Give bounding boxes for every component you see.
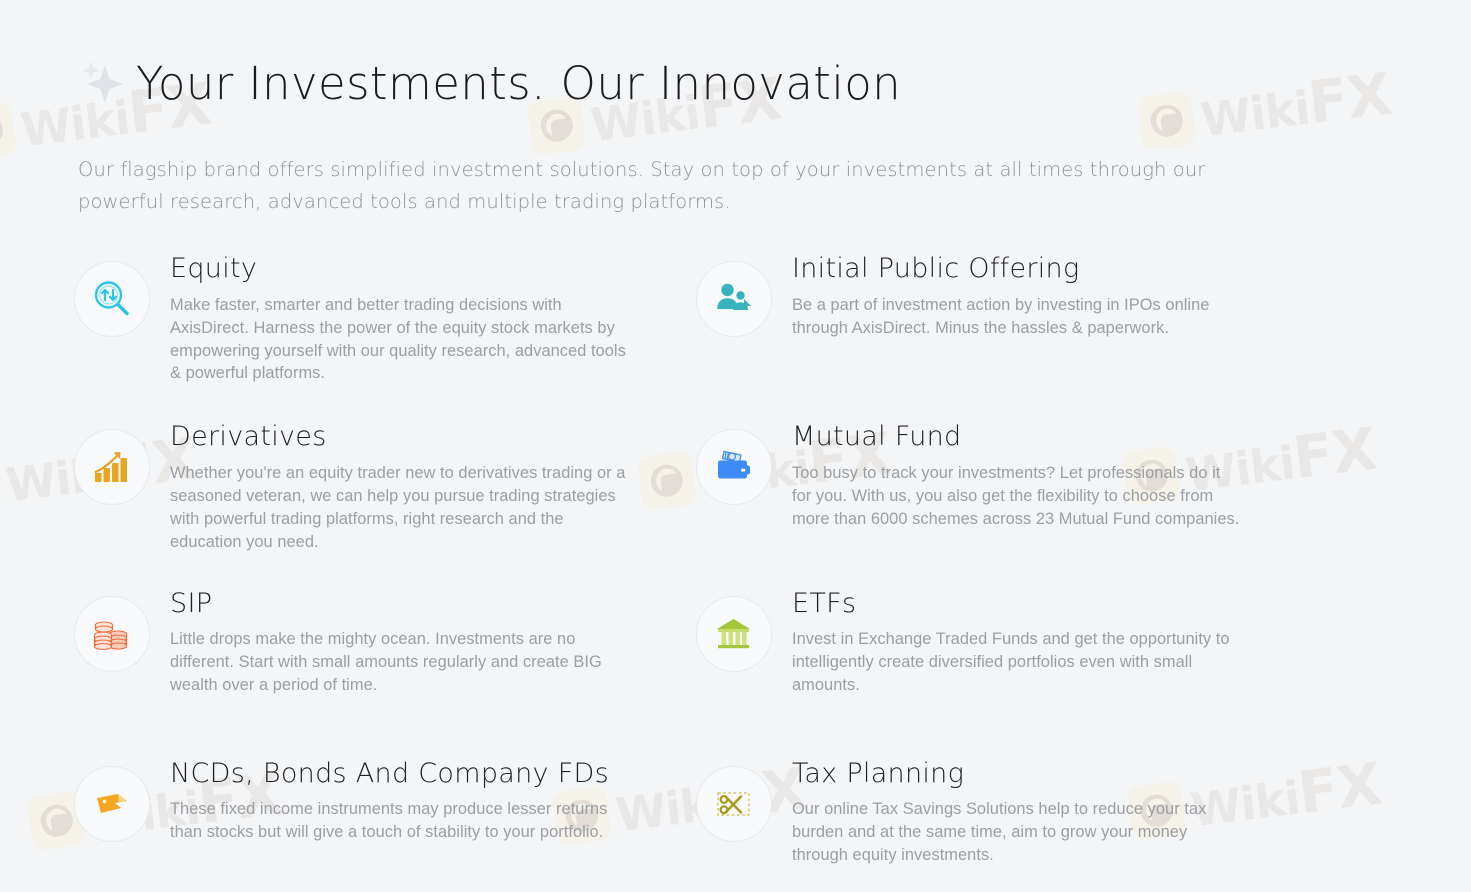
user-profile-icon xyxy=(696,261,772,337)
feature-card-tax-planning[interactable]: Tax Planning Our online Tax Savings Solu… xyxy=(696,746,1457,867)
features-grid: Equity Make faster, smarter and better t… xyxy=(0,241,1471,867)
feature-description: Be a part of investment action by invest… xyxy=(792,294,1244,340)
feature-card-derivatives[interactable]: Derivatives Whether you're an equity tra… xyxy=(74,409,696,553)
feature-body: ETFs Invest in Exchange Traded Funds and… xyxy=(792,586,1457,697)
bank-building-icon xyxy=(696,596,772,672)
magnifier-arrows-icon xyxy=(74,261,150,337)
feature-body: SIP Little drops make the mighty ocean. … xyxy=(170,586,696,697)
feature-title: Mutual Fund xyxy=(792,421,1457,453)
feature-body: Mutual Fund Too busy to track your inves… xyxy=(792,419,1457,530)
feature-card-etfs[interactable]: ETFs Invest in Exchange Traded Funds and… xyxy=(696,576,1457,697)
feature-description: Invest in Exchange Traded Funds and get … xyxy=(792,628,1244,697)
page-title: Your Investments. Our Innovation xyxy=(136,58,901,110)
feature-title: Derivatives xyxy=(170,421,696,453)
feature-card-equity[interactable]: Equity Make faster, smarter and better t… xyxy=(74,241,696,385)
feature-description: Little drops make the mighty ocean. Inve… xyxy=(170,628,632,697)
money-fold-icon xyxy=(74,766,150,842)
feature-description: Our online Tax Savings Solutions help to… xyxy=(792,798,1244,867)
feature-title: NCDs, Bonds And Company FDs xyxy=(170,758,696,790)
feature-body: Tax Planning Our online Tax Savings Solu… xyxy=(792,756,1457,867)
coin-stacks-icon xyxy=(74,596,150,672)
page-title-row: Your Investments. Our Innovation xyxy=(0,28,1471,140)
feature-card-sip[interactable]: SIP Little drops make the mighty ocean. … xyxy=(74,576,696,697)
feature-title: SIP xyxy=(170,588,696,620)
feature-body: Initial Public Offering Be a part of inv… xyxy=(792,251,1457,339)
feature-title: Tax Planning xyxy=(792,758,1457,790)
feature-body: Equity Make faster, smarter and better t… xyxy=(170,251,696,385)
sparkle-icon xyxy=(78,57,130,115)
feature-title: ETFs xyxy=(792,588,1457,620)
feature-description: These fixed income instruments may produ… xyxy=(170,798,632,844)
feature-title: Initial Public Offering xyxy=(792,253,1457,285)
feature-title: Equity xyxy=(170,253,696,285)
bar-chart-growth-icon xyxy=(74,429,150,505)
feature-description: Make faster, smarter and better trading … xyxy=(170,294,632,386)
feature-body: Derivatives Whether you're an equity tra… xyxy=(170,419,696,553)
page-subtitle: Our flagship brand offers simplified inv… xyxy=(78,154,1288,217)
feature-body: NCDs, Bonds And Company FDs These fixed … xyxy=(170,756,696,844)
feature-description: Whether you're an equity trader new to d… xyxy=(170,462,632,554)
wallet-cash-icon xyxy=(696,429,772,505)
header-block: Your Investments. Our Innovation Our fla… xyxy=(0,0,1471,217)
feature-card-initial-public-offering[interactable]: Initial Public Offering Be a part of inv… xyxy=(696,241,1457,385)
feature-card-ncds-bonds-company-fds[interactable]: NCDs, Bonds And Company FDs These fixed … xyxy=(74,746,696,867)
scissors-cut-icon xyxy=(696,766,772,842)
feature-description: Too busy to track your investments? Let … xyxy=(792,462,1244,531)
feature-card-mutual-fund[interactable]: Mutual Fund Too busy to track your inves… xyxy=(696,409,1457,553)
